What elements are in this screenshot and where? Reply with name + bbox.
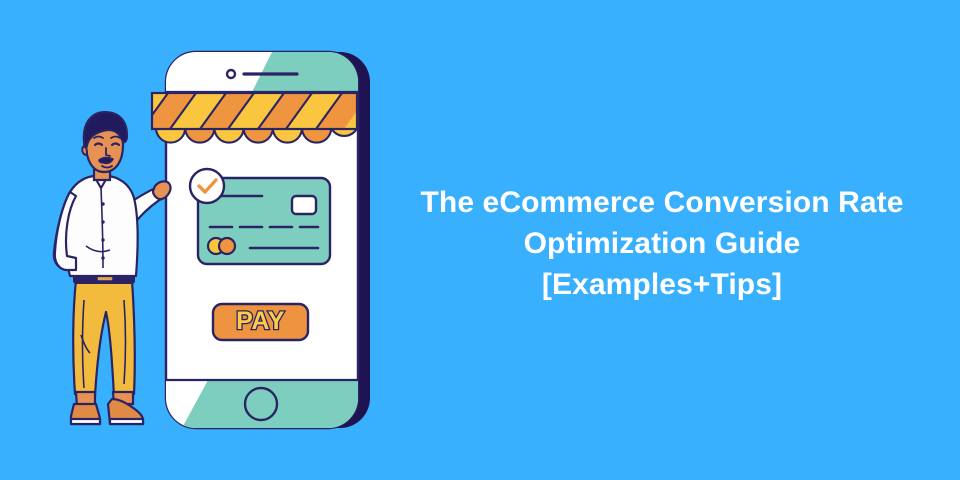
hero-illustration: PAY xyxy=(0,0,400,480)
headline: The eCommerce Conversion Rate Optimizati… xyxy=(392,182,932,305)
headline-line-2: Optimization Guide xyxy=(392,223,932,264)
phone-bottom-band-teal xyxy=(182,380,358,428)
headline-line-1: The eCommerce Conversion Rate xyxy=(392,182,932,223)
card-chip-icon xyxy=(292,196,316,214)
right-shoe-sole xyxy=(110,419,143,424)
illustration-svg: PAY xyxy=(0,0,400,480)
check-circle-icon xyxy=(190,169,224,203)
pay-button-label: PAY xyxy=(236,307,285,335)
credit-card xyxy=(190,169,330,264)
camera-dot-icon xyxy=(227,70,235,78)
mustache xyxy=(99,158,113,164)
two-circles-logo-icon xyxy=(208,238,235,254)
man-illustration xyxy=(54,112,171,424)
left-shoe-sole xyxy=(71,419,100,424)
pay-button[interactable]: PAY xyxy=(213,304,308,340)
awning-canopy xyxy=(142,93,370,129)
right-hand-icon xyxy=(153,181,171,199)
headline-line-3: [Examples+Tips] xyxy=(392,264,932,305)
banner-root: PAY xyxy=(0,0,960,480)
